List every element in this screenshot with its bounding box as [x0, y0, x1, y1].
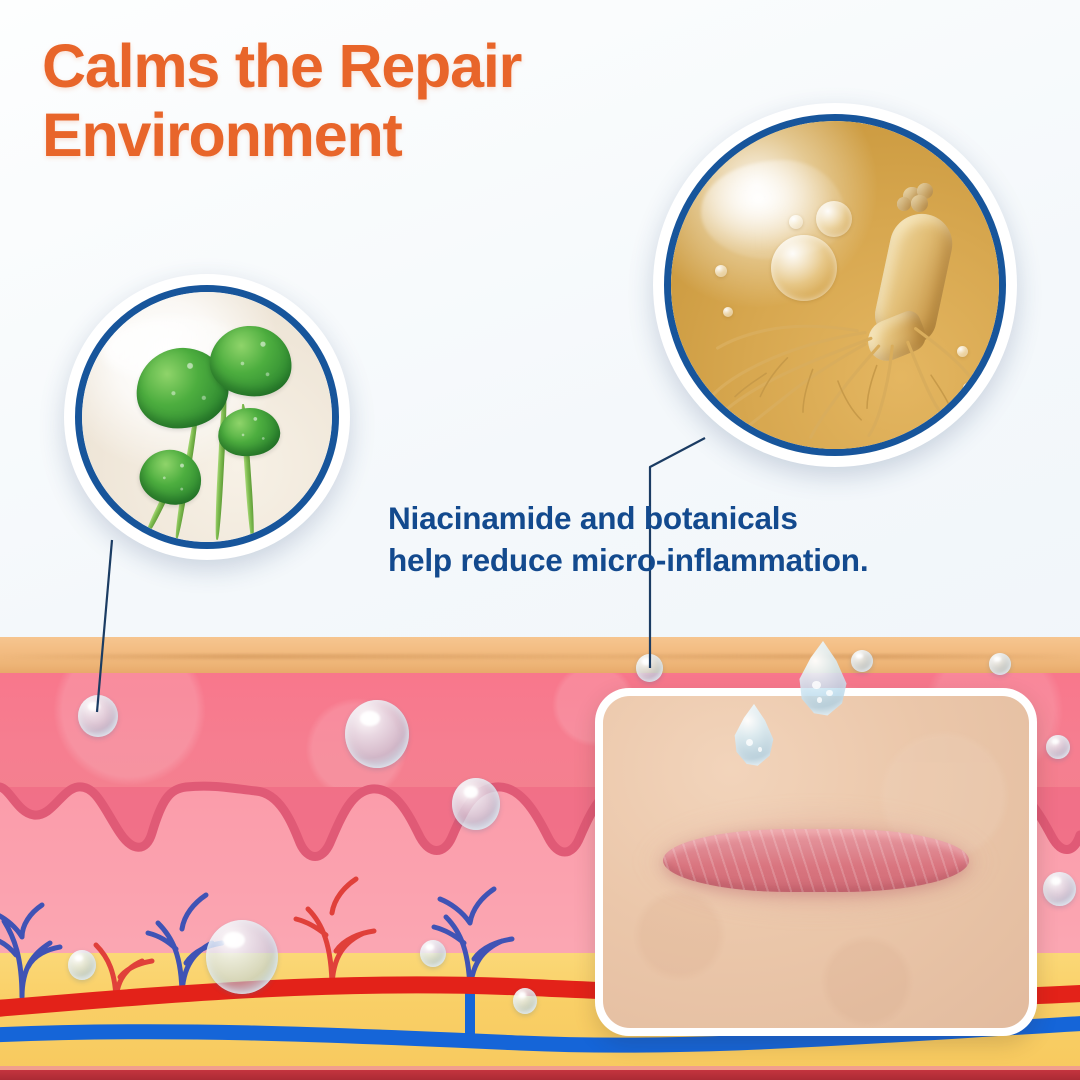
page-title-line-1: Calms the Repair — [42, 32, 722, 101]
page-title: Calms the Repair Environment — [42, 32, 722, 170]
medallion-image-centella — [82, 292, 332, 542]
poster-canvas: Calms the Repair Environment Niacinamide… — [0, 0, 1080, 1080]
medallion-ring — [75, 285, 339, 549]
page-title-line-2: Environment — [42, 101, 722, 170]
medallion-image-ginseng — [671, 121, 999, 449]
ingredient-medallion-centella[interactable] — [64, 274, 350, 560]
connector-line-centella — [97, 540, 112, 712]
ginseng-rootlets — [671, 121, 999, 449]
callout-text: Niacinamide and botanicals help reduce m… — [388, 498, 1008, 582]
callout-line-1: Niacinamide and botanicals — [388, 498, 1008, 540]
callout-line-2: help reduce micro-inflammation. — [388, 540, 1008, 582]
